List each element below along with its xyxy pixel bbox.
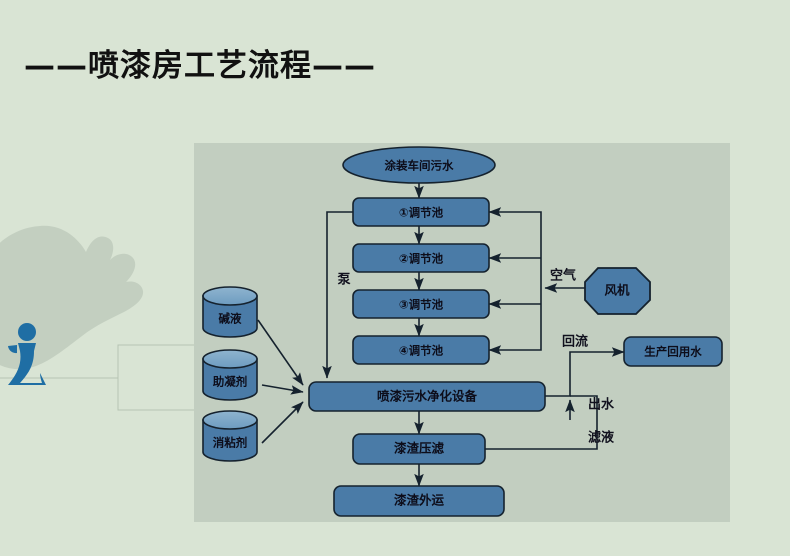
node-disposal[interactable]: 漆渣外运 <box>334 486 504 516</box>
edge-label-return: 回流 <box>562 334 588 350</box>
node-dosing-2-label: 助凝剂 <box>213 375 248 389</box>
slide-canvas: ——喷漆房工艺流程—— <box>0 0 790 556</box>
node-tank-1-label: ①调节池 <box>399 206 444 220</box>
node-dosing-2[interactable]: 助凝剂 <box>203 350 257 400</box>
edge-label-pump: 泵 <box>337 273 350 288</box>
node-treatment-label: 喷漆污水净化设备 <box>377 389 478 404</box>
node-dosing-3[interactable]: 消粘剂 <box>203 411 257 461</box>
edge-label-effluent: 出水 <box>588 397 615 413</box>
node-tank-3-label: ③调节池 <box>399 298 444 312</box>
node-reuse-water-label: 生产回用水 <box>644 345 702 359</box>
node-treatment[interactable]: 喷漆污水净化设备 <box>309 382 545 411</box>
node-dosing-1[interactable]: 碱液 <box>203 287 257 337</box>
edge-label-air: 空气 <box>550 268 576 284</box>
node-tank-4-label: ④调节池 <box>399 344 444 358</box>
node-dosing-3-label: 消粘剂 <box>213 436 248 450</box>
node-source-label: 涂装车间污水 <box>385 159 454 173</box>
node-disposal-label: 漆渣外运 <box>394 493 445 508</box>
node-press-label: 漆渣压滤 <box>394 441 445 456</box>
node-tank-3[interactable]: ③调节池 <box>353 290 489 318</box>
node-source[interactable]: 涂装车间污水 <box>343 147 495 183</box>
node-tank-1[interactable]: ①调节池 <box>353 198 489 226</box>
process-flow-diagram: 涂装车间污水 ①调节池 ②调节池 ③调节池 ④调节池 喷漆 <box>0 0 790 556</box>
edge-label-filtrate: 滤液 <box>588 430 614 446</box>
node-blower-label: 风机 <box>604 283 630 298</box>
node-tank-2-label: ②调节池 <box>399 252 444 266</box>
node-dosing-1-label: 碱液 <box>219 312 242 326</box>
node-press[interactable]: 漆渣压滤 <box>353 434 485 464</box>
node-reuse-water[interactable]: 生产回用水 <box>624 337 722 366</box>
node-tank-4[interactable]: ④调节池 <box>353 336 489 364</box>
node-blower[interactable]: 风机 <box>585 268 650 314</box>
node-tank-2[interactable]: ②调节池 <box>353 244 489 272</box>
